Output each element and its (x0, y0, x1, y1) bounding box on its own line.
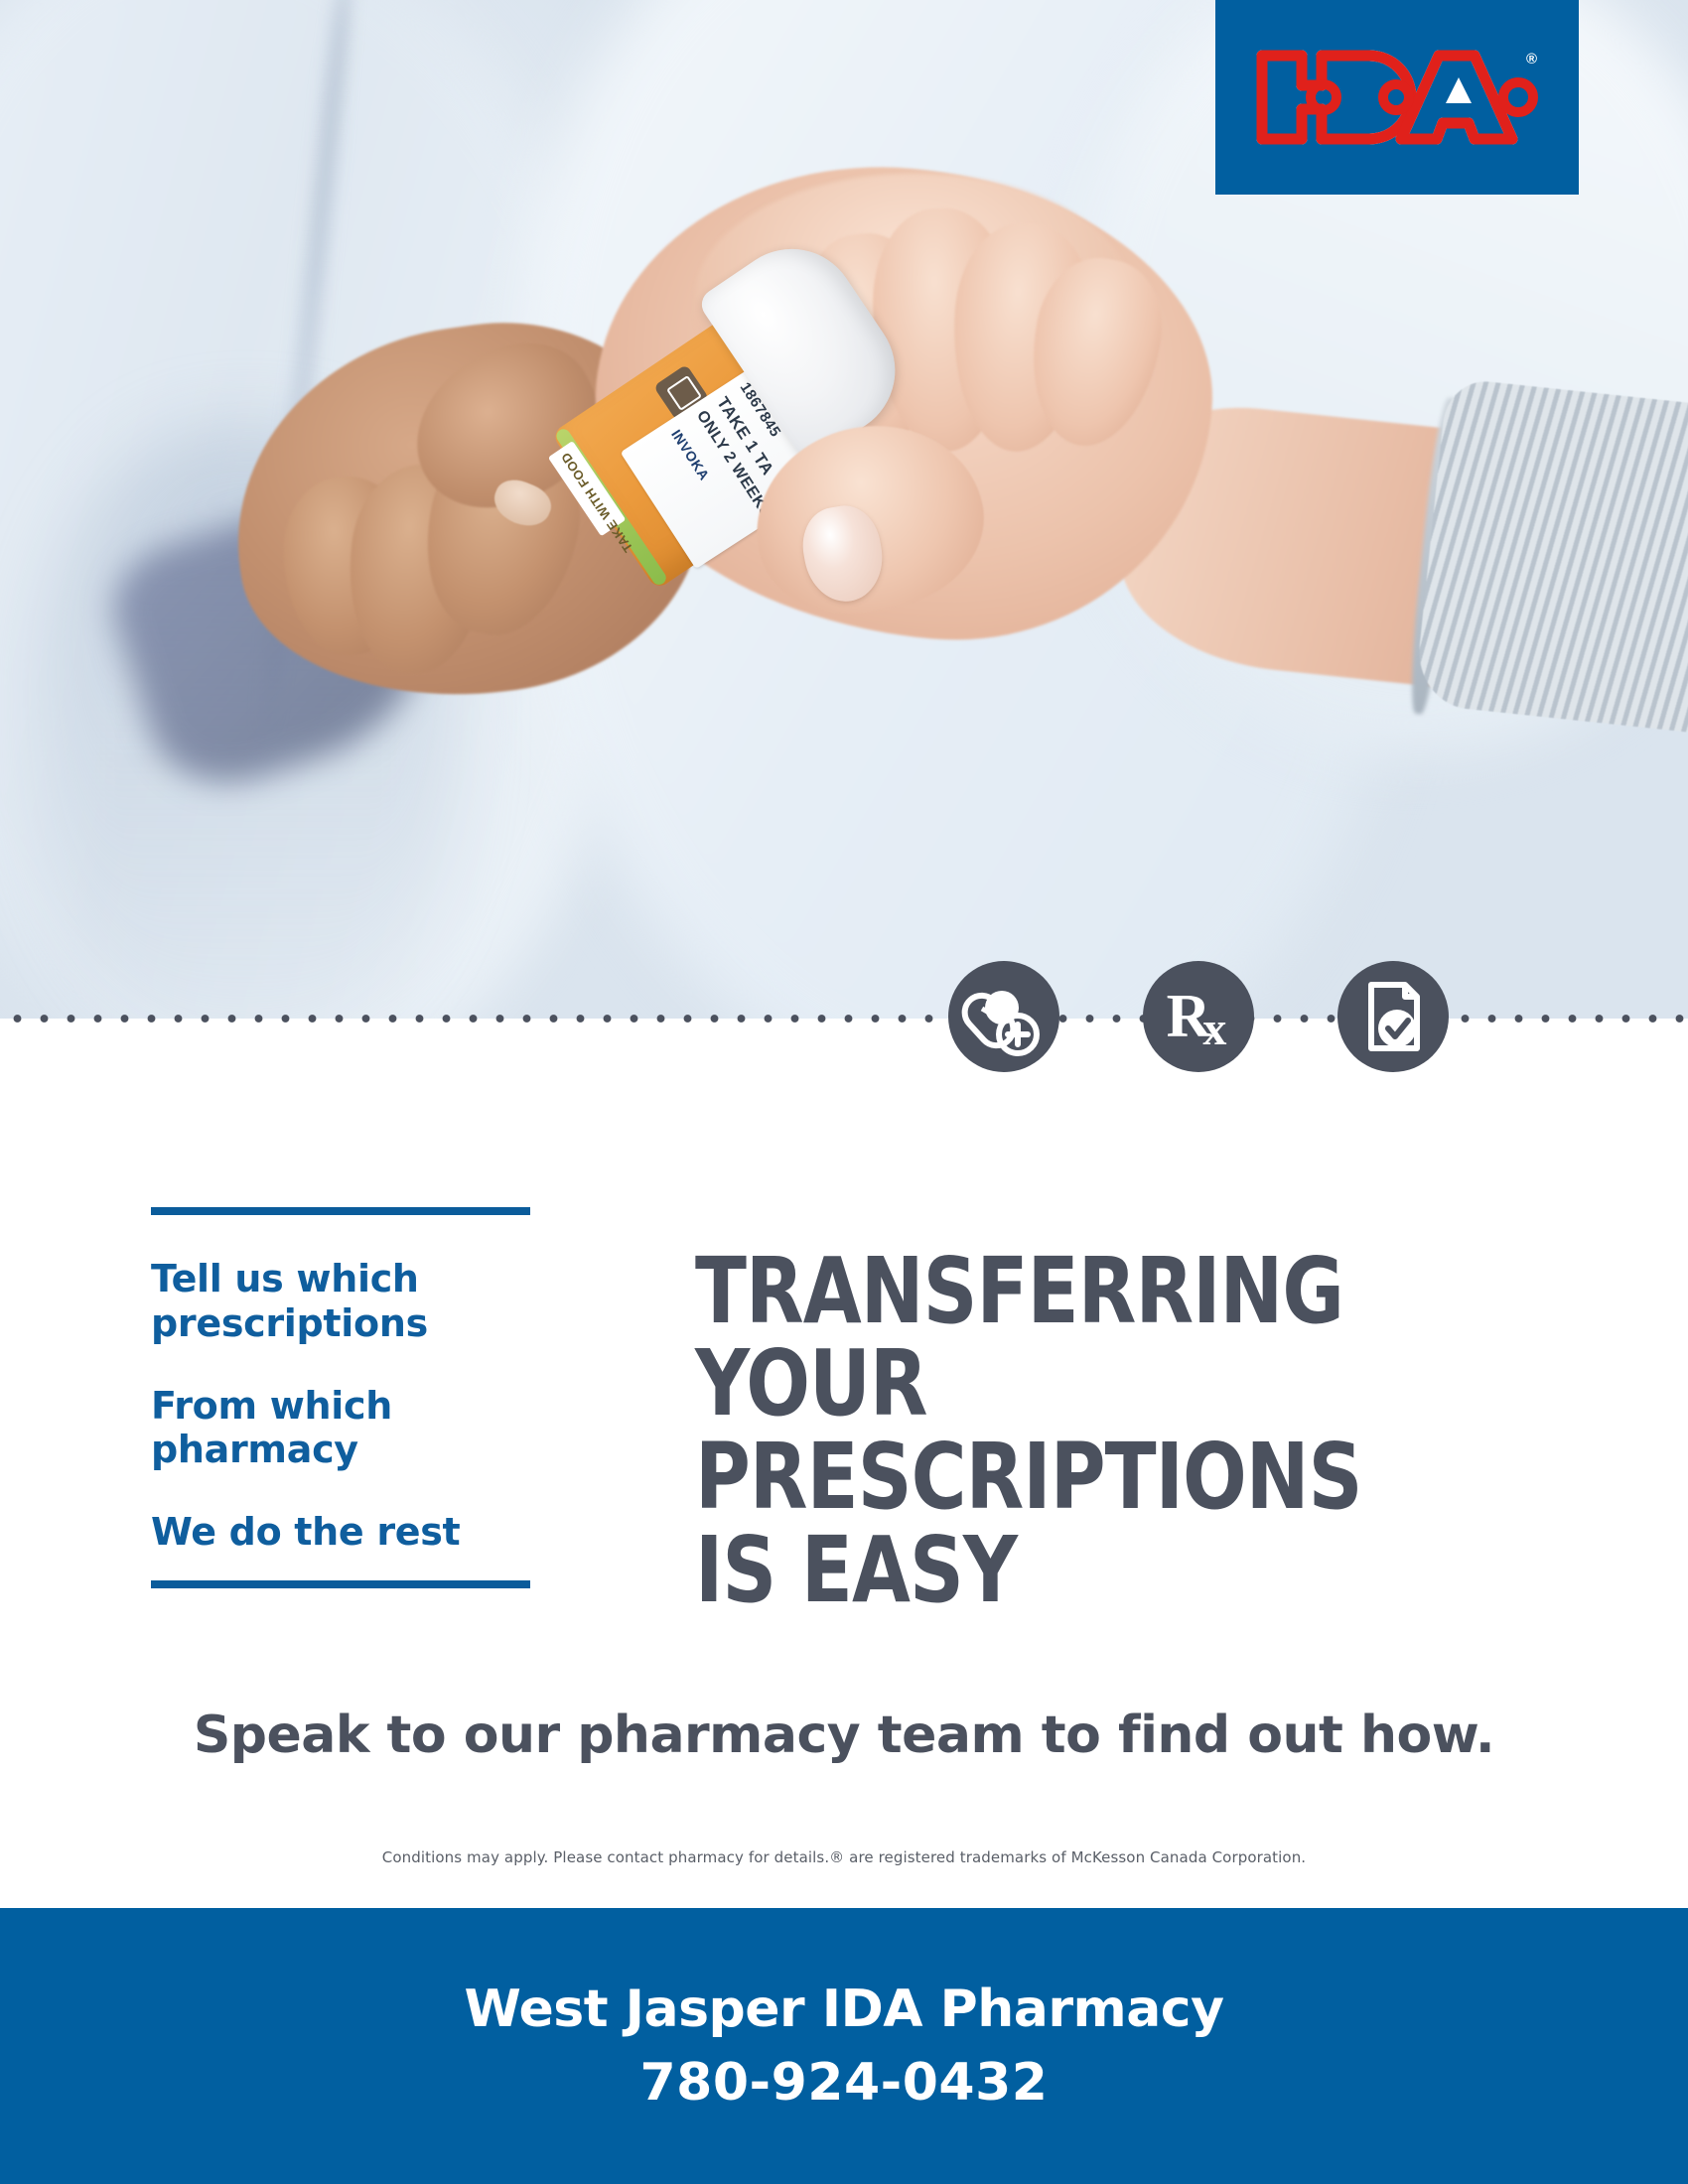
ida-logo-mark: ® (1252, 42, 1542, 153)
rx-icon: Rx (1143, 961, 1254, 1072)
icon-badge-row: Rx (948, 955, 1504, 1082)
ida-logo: ® (1215, 0, 1579, 195)
tagline: Speak to our pharmacy team to find out h… (0, 1706, 1688, 1765)
benefit-list: Tell us which prescriptions From which p… (151, 1207, 538, 1588)
footer-bar: West Jasper IDA Pharmacy 780-924-0432 (0, 1908, 1688, 2184)
rx-label: Rx (1143, 961, 1254, 1072)
headline-line-4: IS EASY (695, 1524, 1499, 1617)
poster: TAKE WITH FOOD 1867845 TAKE 1 TA ONLY 2 … (0, 0, 1688, 2184)
pharmacy-name: West Jasper IDA Pharmacy (464, 1979, 1223, 2039)
list-rule-bottom (151, 1580, 530, 1588)
benefit-item-1: Tell us which prescriptions (151, 1257, 538, 1346)
pills-plus-icon (948, 961, 1059, 1072)
headline-line-1: TRANSFERRING (695, 1245, 1499, 1338)
benefit-item-2: From which pharmacy (151, 1384, 538, 1473)
pharmacy-phone[interactable]: 780-924-0432 (640, 2053, 1049, 2113)
benefit-item-3: We do the rest (151, 1510, 538, 1555)
sweater-sleeve (1414, 377, 1688, 735)
page-title: TRANSFERRING YOUR PRESCRIPTIONS IS EASY (695, 1245, 1499, 1617)
svg-text:®: ® (1526, 51, 1537, 68)
legal-disclaimer: Conditions may apply. Please contact pha… (0, 1848, 1688, 1866)
list-rule-top (151, 1207, 530, 1215)
document-check-icon (1337, 961, 1449, 1072)
headline-line-2: YOUR (695, 1337, 1499, 1431)
benefit-items: Tell us which prescriptions From which p… (151, 1257, 538, 1555)
headline-line-3: PRESCRIPTIONS (695, 1431, 1499, 1524)
